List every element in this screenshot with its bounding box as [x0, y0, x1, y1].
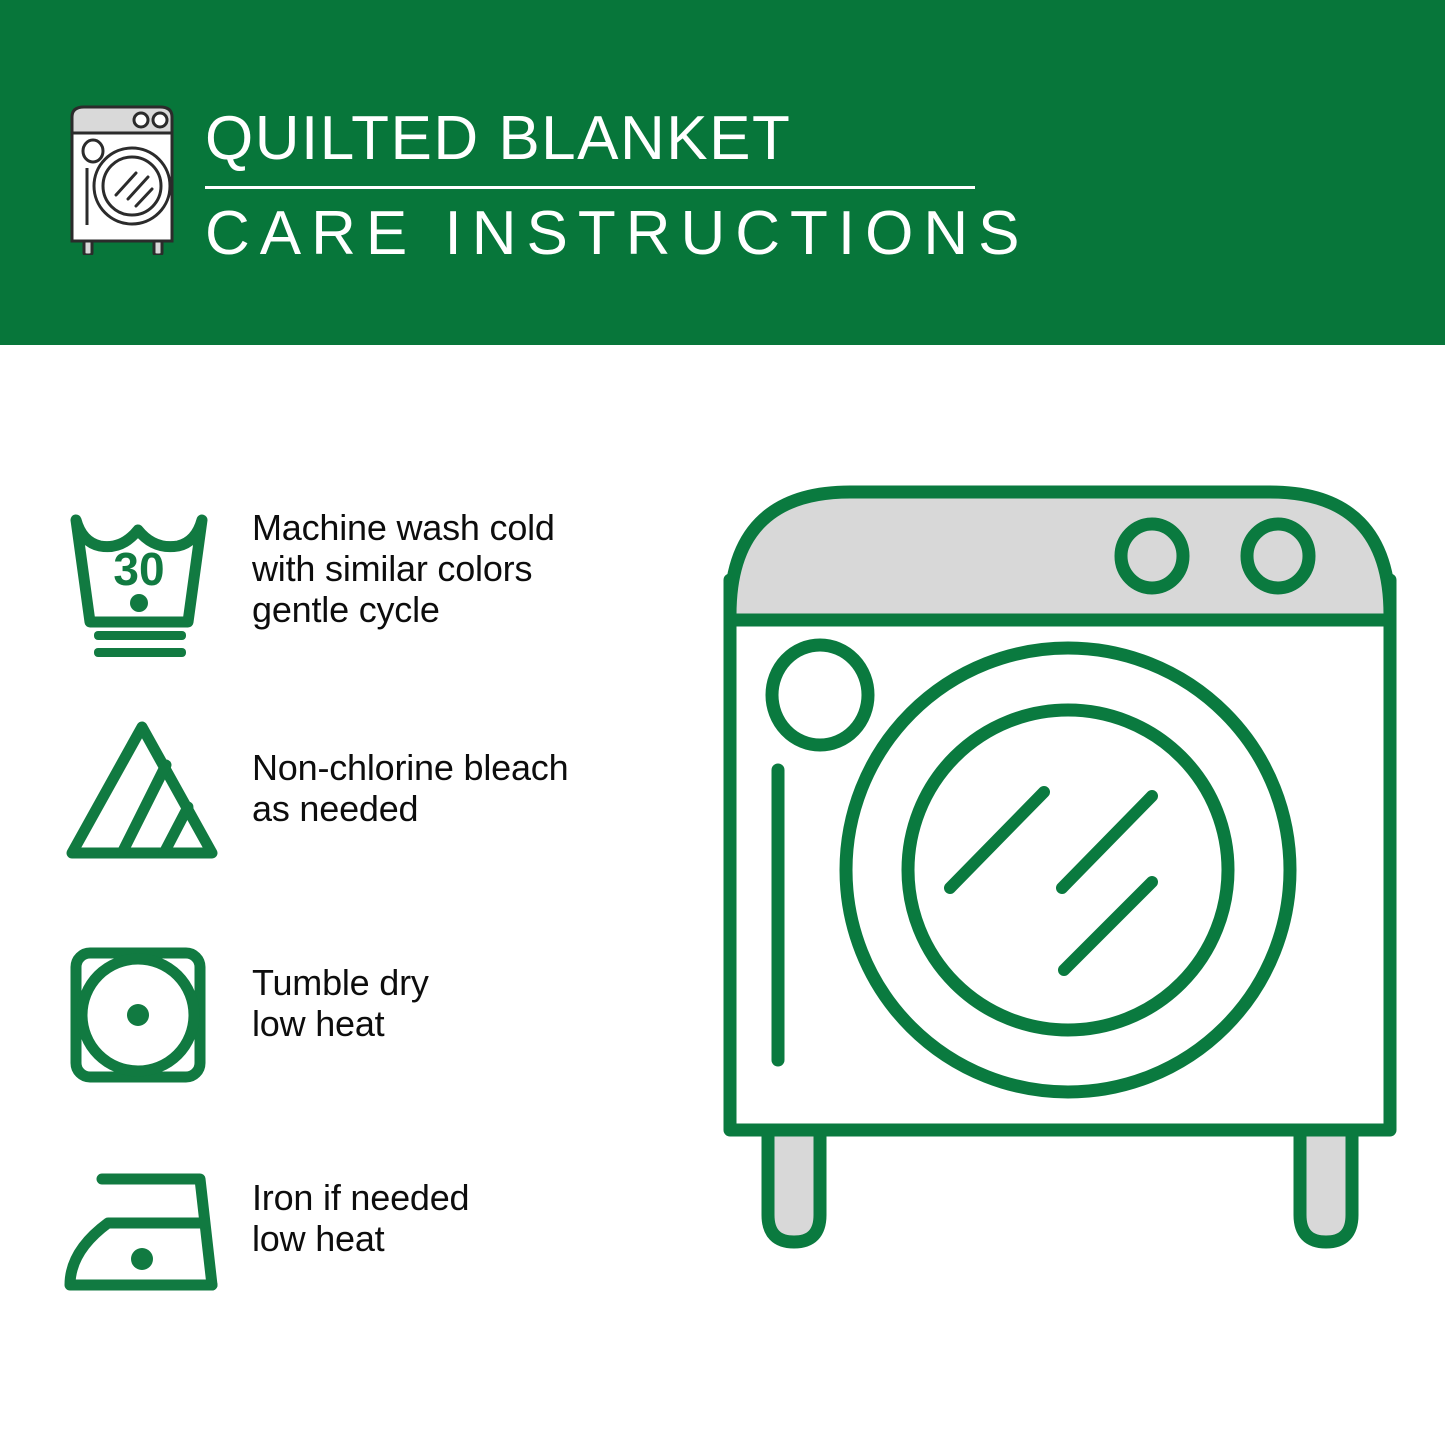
tumble-dry-low-heat-icon: [60, 930, 230, 1100]
care-label-line: low heat: [252, 1218, 469, 1259]
care-instructions-infographic: QUILTED BLANKET CARE INSTRUCTIONS 30: [0, 0, 1445, 1445]
title-divider: [205, 186, 975, 189]
care-label-tumble-dry: Tumble dry low heat: [230, 930, 429, 1044]
care-row-machine-wash: 30 Machine wash cold with similar colors…: [0, 495, 700, 665]
wash-tub-30-gentle-icon: 30: [60, 495, 230, 665]
care-label-bleach: Non-chlorine bleach as needed: [230, 705, 568, 829]
header-title-block: QUILTED BLANKET CARE INSTRUCTIONS: [205, 104, 995, 271]
page-title-secondary: CARE INSTRUCTIONS: [205, 197, 995, 271]
care-label-line: Non-chlorine bleach: [252, 747, 568, 788]
care-label-line: Machine wash cold: [252, 507, 555, 548]
care-row-bleach: Non-chlorine bleach as needed: [0, 705, 700, 875]
care-instruction-list: 30 Machine wash cold with similar colors…: [0, 345, 700, 1445]
front-load-washing-machine-illustration: [700, 470, 1420, 1370]
care-label-line: Iron if needed: [252, 1177, 469, 1218]
washing-machine-logo-icon: [64, 103, 188, 255]
iron-low-heat-icon: [60, 1145, 230, 1315]
header-band: QUILTED BLANKET CARE INSTRUCTIONS: [0, 0, 1445, 345]
care-label-line: with similar colors: [252, 548, 555, 589]
page-title-primary: QUILTED BLANKET: [205, 104, 995, 174]
wash-temperature-value: 30: [113, 543, 164, 595]
care-label-iron: Iron if needed low heat: [230, 1145, 469, 1259]
care-label-machine-wash: Machine wash cold with similar colors ge…: [230, 495, 555, 630]
bleach-triangle-non-chlorine-icon: [60, 705, 230, 875]
care-label-line: as needed: [252, 788, 568, 829]
care-label-line: gentle cycle: [252, 589, 555, 630]
care-row-tumble-dry: Tumble dry low heat: [0, 930, 700, 1100]
care-label-line: low heat: [252, 1003, 429, 1044]
care-label-line: Tumble dry: [252, 962, 429, 1003]
care-row-iron: Iron if needed low heat: [0, 1145, 700, 1315]
